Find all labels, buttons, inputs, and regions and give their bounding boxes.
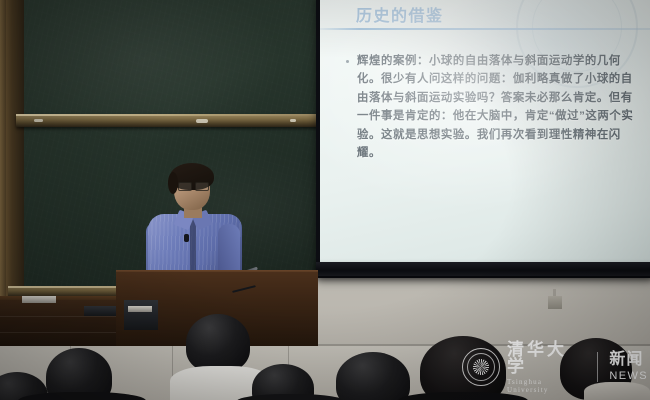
- speaker-sideburn: [168, 172, 178, 194]
- slide-title-rule: [320, 28, 650, 30]
- watermark-university-en: Tsinghua University: [507, 378, 586, 394]
- watermark-news-cn: 新闻: [609, 352, 648, 368]
- tsinghua-news-watermark: 清华大学 Tsinghua University 新闻 NEWS: [462, 344, 648, 390]
- watermark-divider: [597, 352, 598, 382]
- eyeglass-lens-right: [195, 182, 209, 191]
- lecture-photo-screenshot: 历史的借鉴 辉煌的案例：小球的自由落体与斜面运动学的几何化。很少有人问这样的问题…: [0, 0, 650, 400]
- lectern-control-panel: [124, 300, 158, 330]
- blackboard-outer-trim: [0, 0, 6, 300]
- slide-body-text: 辉煌的案例：小球的自由落体与斜面运动学的几何化。很少有人问这样的问题：伽利略真做…: [357, 52, 640, 163]
- chalk-piece: [290, 119, 296, 122]
- projection-screen-bottom-bar: [316, 262, 650, 276]
- lectern-panel-screen: [128, 306, 152, 312]
- clip-microphone-icon: [184, 234, 189, 242]
- watermark-university: 清华大学 Tsinghua University: [507, 341, 586, 394]
- watermark-news-en: NEWS: [609, 370, 648, 382]
- projection-screen: 历史的借鉴 辉煌的案例：小球的自由落体与斜面运动学的几何化。很少有人问这样的问题…: [320, 0, 650, 266]
- wall-fixture: [548, 296, 562, 309]
- chalk-ledge-upper-highlight: [16, 114, 318, 116]
- slide-title: 历史的借鉴: [356, 2, 444, 26]
- chalk-piece: [196, 119, 208, 123]
- audience-head: [186, 314, 250, 372]
- blackboard-left-frame: [4, 0, 24, 300]
- eyeglass-lens-left: [178, 182, 192, 191]
- bullet-icon: [346, 60, 349, 63]
- eyeglasses-icon: [178, 182, 208, 189]
- watermark-news: 新闻 NEWS: [609, 352, 648, 382]
- slide-body-block: 辉煌的案例：小球的自由落体与斜面运动学的几何化。很少有人问这样的问题：伽利略真做…: [346, 52, 640, 163]
- desk-equipment: [22, 296, 56, 303]
- tsinghua-seal-icon: [462, 348, 500, 386]
- chalk-piece: [34, 119, 43, 122]
- audience-shoulders: [18, 392, 146, 400]
- watermark-university-cn: 清华大学: [507, 341, 586, 375]
